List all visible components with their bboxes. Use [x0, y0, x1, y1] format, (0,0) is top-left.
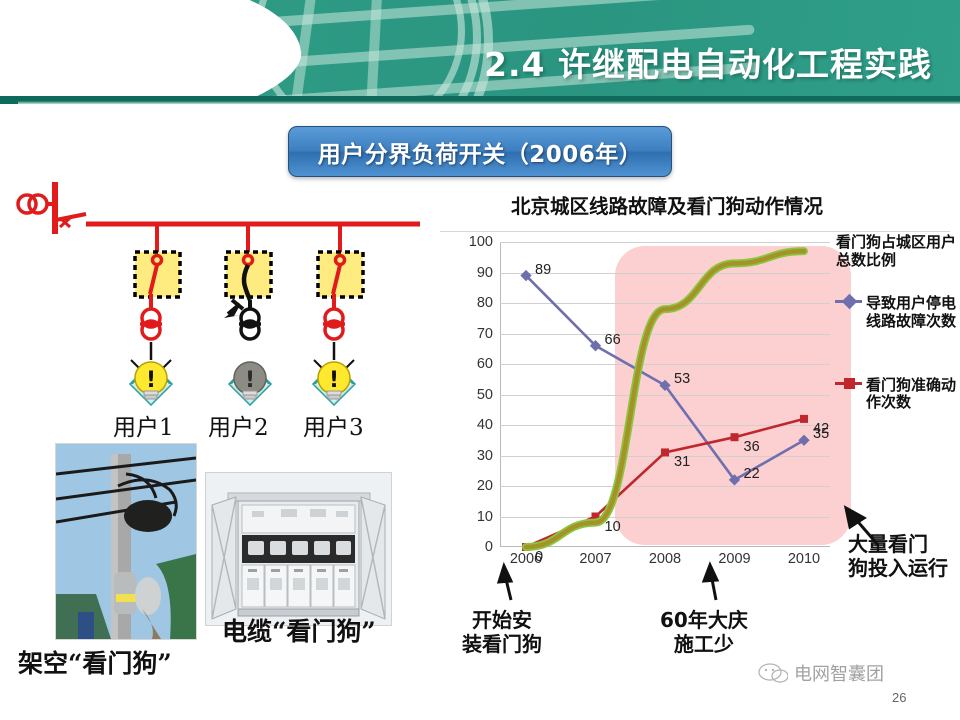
annotation-mass-deployment: 大量看门 狗投入运行	[848, 532, 948, 580]
watermark: 电网智囊团	[758, 660, 884, 686]
data-point-marker	[731, 433, 739, 441]
data-label: 42	[813, 421, 829, 437]
lamp-user2: !	[230, 362, 270, 404]
diamond-marker-icon	[842, 294, 858, 310]
legend-item-ratio[interactable]: 看门狗占城区用户总数比例	[836, 234, 960, 269]
header-white-curve	[0, 0, 309, 104]
y-tick-label: 100	[469, 234, 493, 250]
overhead-watchdog-photo	[55, 443, 197, 640]
data-label: 53	[674, 371, 690, 387]
diagram-user-label-2: 用户2	[208, 408, 269, 442]
legend-item-watchdog[interactable]: 看门狗准确动作次数	[836, 377, 960, 412]
x-tick-label: 2010	[788, 551, 820, 567]
section-title-label: 用户分界负荷开关（2006年）	[318, 135, 643, 169]
legend-label-watchdog: 看门狗准确动作次数	[866, 377, 960, 412]
lamp-user1: !	[131, 360, 171, 404]
page-title: 2.4 许继配电自动化工程实践	[484, 38, 932, 86]
chart-legend: 看门狗占城区用户总数比例 导致用户停电线路故障次数 看门狗准确动作次数	[836, 234, 960, 428]
legend-label-ratio: 看门狗占城区用户总数比例	[836, 234, 960, 269]
annotation-start-install: 开始安 装看门狗	[462, 608, 542, 656]
section-title-pill: 用户分界负荷开关（2006年）	[288, 126, 672, 177]
data-label: 10	[605, 519, 621, 535]
y-tick-label: 10	[477, 509, 493, 525]
square-marker-icon	[844, 378, 855, 389]
diagram-user-label-3: 用户3	[303, 408, 364, 442]
wechat-icon	[758, 663, 788, 683]
data-label: 31	[674, 454, 690, 470]
diagram-user-label-1: 用户1	[113, 408, 174, 442]
y-tick-label: 50	[477, 387, 493, 403]
chart-top-rule	[440, 231, 950, 232]
data-label: 36	[744, 439, 760, 455]
overhead-watchdog-caption: 架空“看门狗”	[18, 644, 172, 680]
data-label: 66	[605, 332, 621, 348]
header-divider	[0, 96, 960, 104]
data-point-marker	[798, 435, 809, 446]
chart-series	[500, 242, 830, 547]
line-chart: 北京城区线路故障及看门狗动作情况 0102030405060708090100 …	[432, 190, 960, 570]
svg-text:!: !	[146, 368, 156, 393]
svg-text:!: !	[329, 368, 339, 393]
chart-title: 北京城区线路故障及看门狗动作情况	[432, 190, 902, 219]
y-tick-label: 60	[477, 356, 493, 372]
y-tick-label: 40	[477, 417, 493, 433]
watermark-text: 电网智囊团	[794, 660, 884, 686]
y-tick-label: 20	[477, 478, 493, 494]
page-number: 26	[892, 690, 906, 705]
data-point-marker	[661, 448, 669, 456]
data-point-marker	[800, 415, 808, 423]
y-tick-label: 90	[477, 265, 493, 281]
x-tick-label: 2009	[718, 551, 750, 567]
y-tick-label: 30	[477, 448, 493, 464]
data-label: 0	[535, 549, 543, 565]
ratio-curve-halo	[526, 251, 804, 547]
y-tick-label: 0	[485, 539, 493, 555]
y-tick-label: 80	[477, 295, 493, 311]
chart-plot-area: 0102030405060708090100 20062007200820092…	[500, 242, 830, 547]
legend-label-outage: 导致用户停电线路故障次数	[866, 295, 960, 330]
lamp-user3: !	[314, 360, 354, 404]
legend-item-outage[interactable]: 导致用户停电线路故障次数	[836, 295, 960, 330]
slide-header: 2.4 许继配电自动化工程实践	[0, 0, 960, 104]
cable-watchdog-photo	[205, 472, 392, 626]
svg-text:!: !	[245, 368, 255, 393]
y-tick-label: 70	[477, 326, 493, 342]
annotation-60th-anniversary: 60年大庆 施工少	[660, 608, 748, 656]
circuit-diagram: ! ! !	[0, 182, 430, 432]
data-label: 89	[535, 262, 551, 278]
data-label: 22	[744, 466, 760, 482]
series-line-2	[526, 251, 804, 547]
cable-watchdog-caption: 电缆“看门狗”	[222, 612, 376, 648]
x-tick-label: 2008	[649, 551, 681, 567]
x-tick-label: 2007	[579, 551, 611, 567]
header-divider-cap	[0, 96, 18, 104]
